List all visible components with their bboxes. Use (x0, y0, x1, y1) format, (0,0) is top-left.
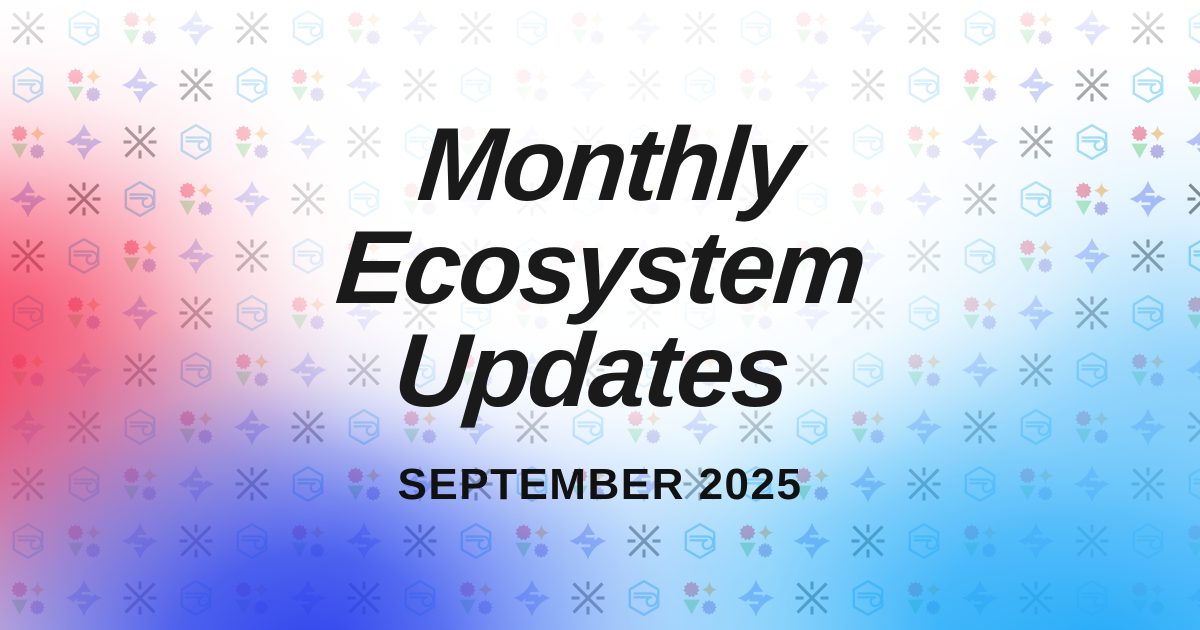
page-title: Monthly Ecosystem Updates (323, 114, 877, 423)
subtitle-date: SEPTEMBER 2025 (398, 460, 803, 510)
title-line-1: Monthly (341, 114, 877, 217)
banner: Monthly Ecosystem Updates SEPTEMBER 2025 (0, 0, 1200, 630)
title-line-2: Ecosystem (332, 217, 868, 320)
banner-content: Monthly Ecosystem Updates SEPTEMBER 2025 (0, 0, 1200, 630)
title-line-3: Updates (323, 319, 859, 422)
